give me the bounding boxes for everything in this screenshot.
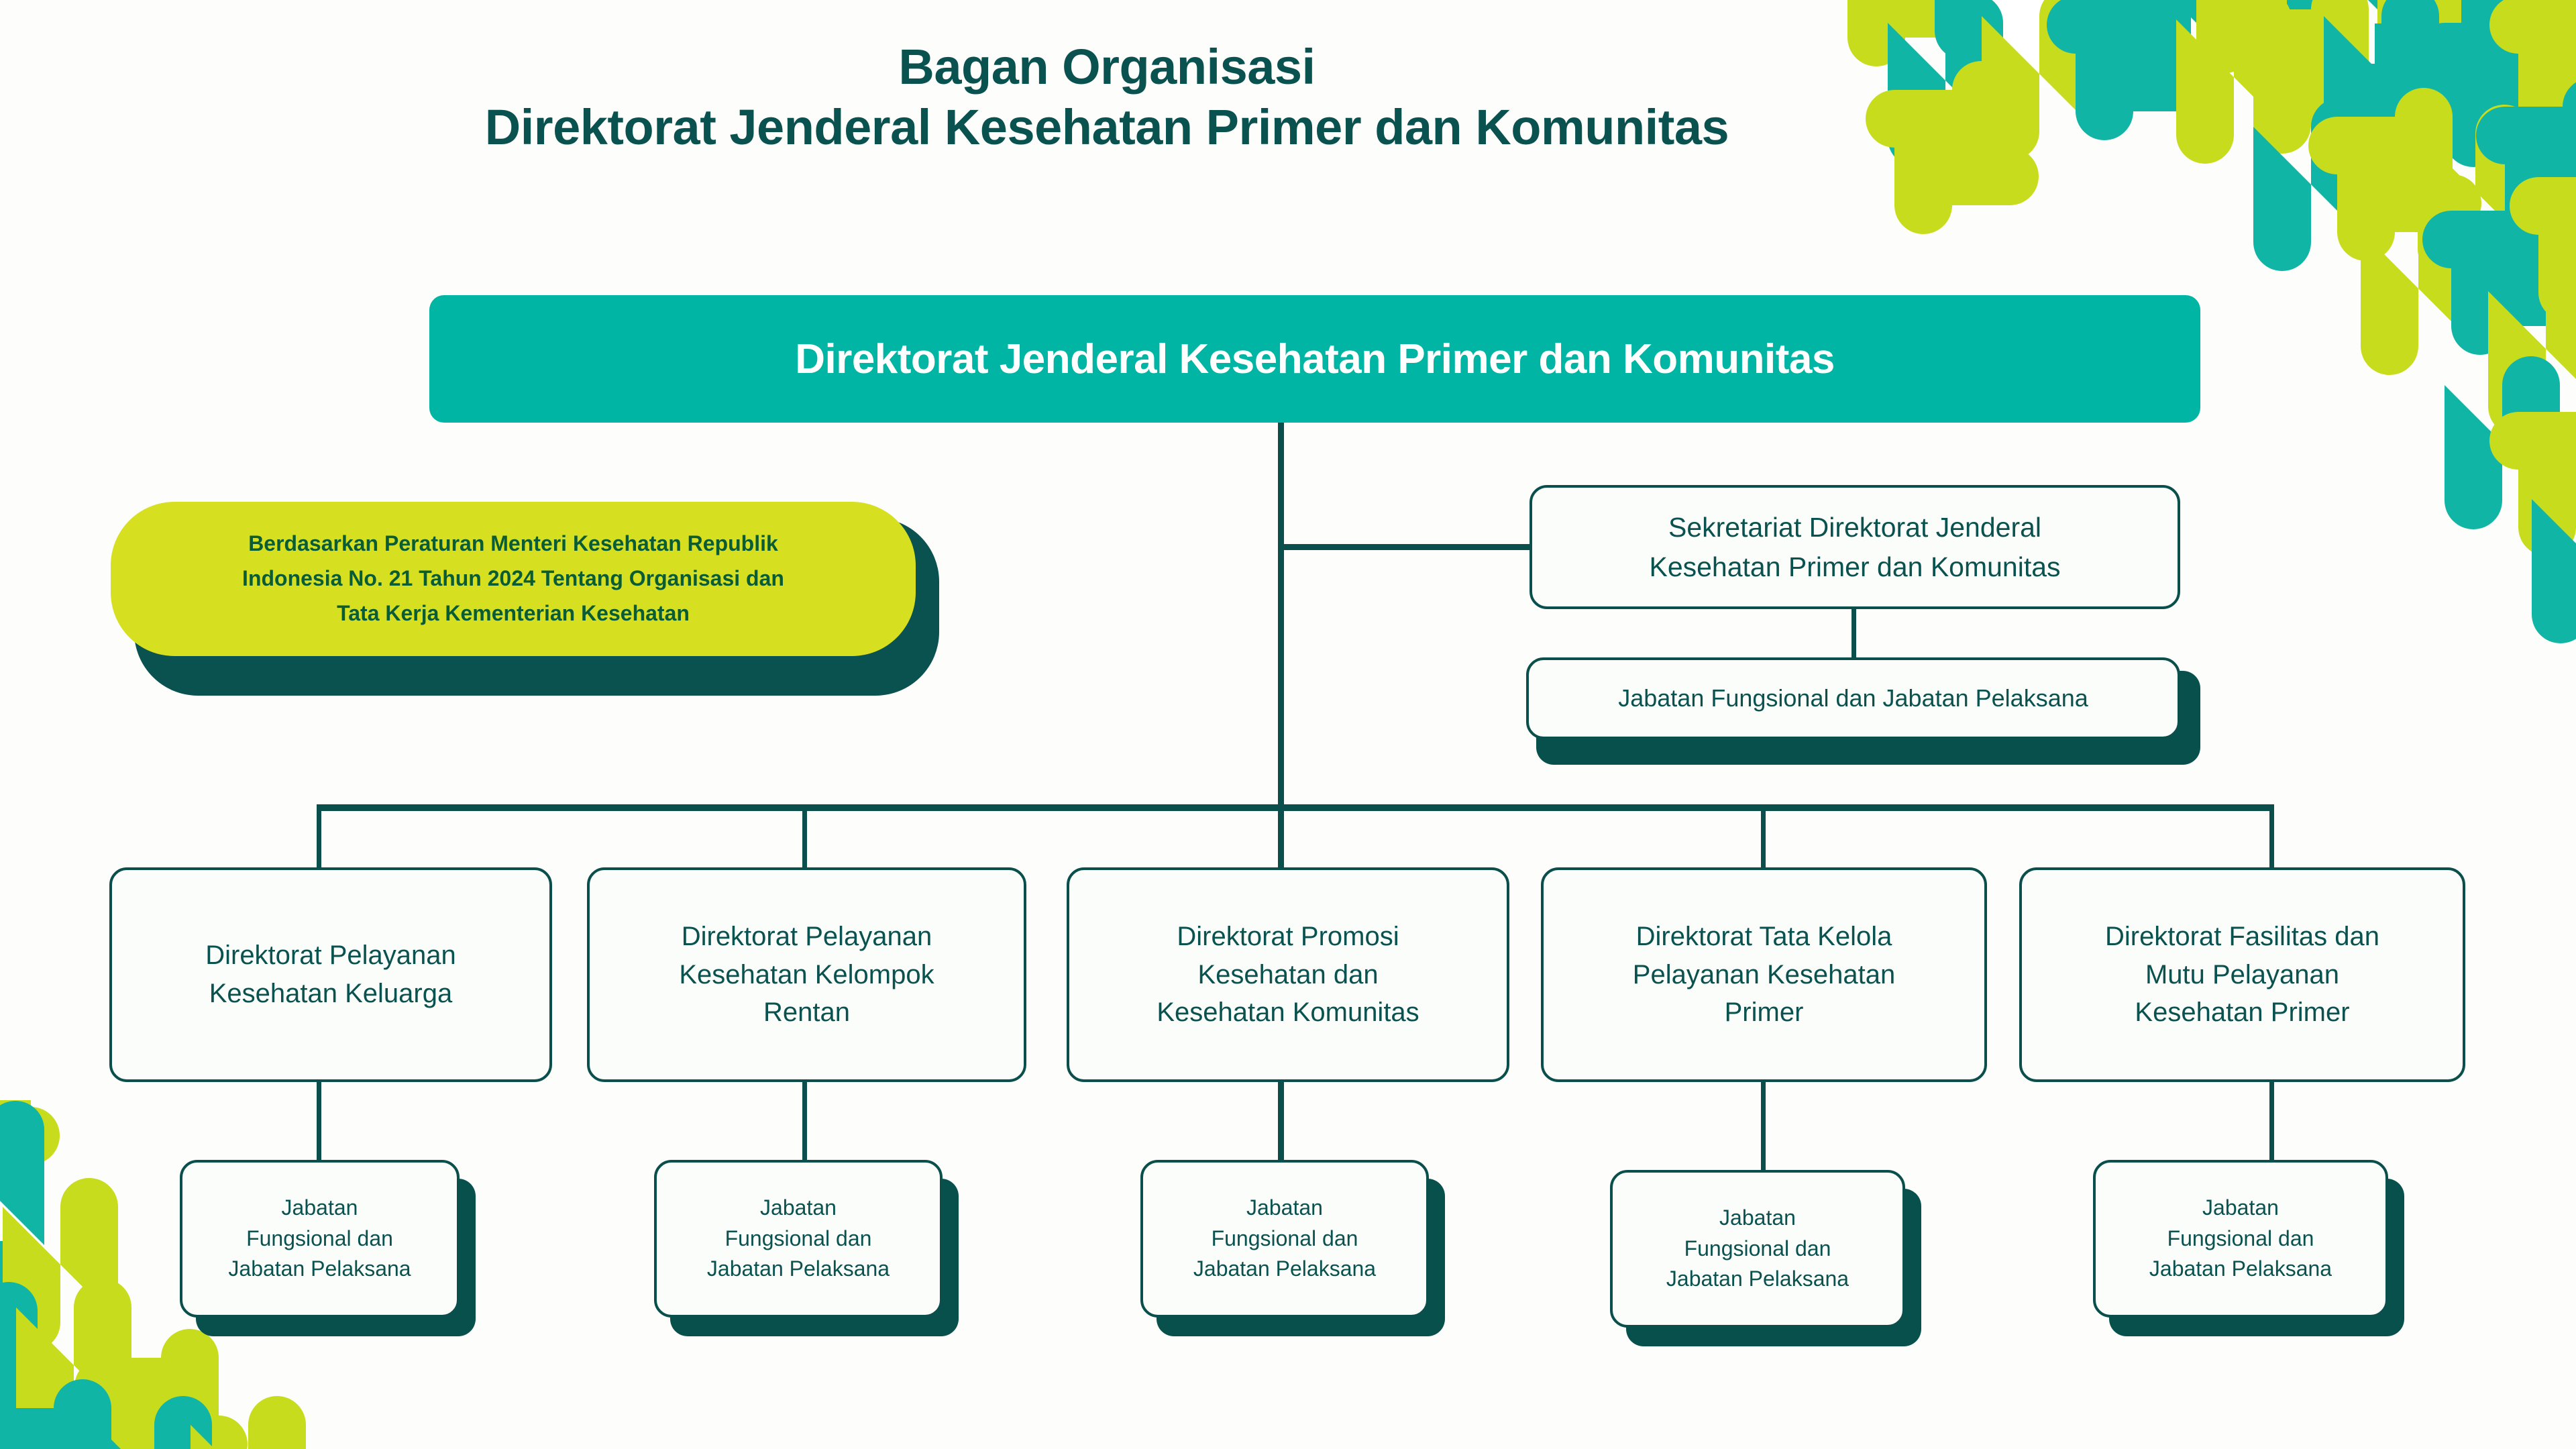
node-jabatan-2[interactable]: Jabatan Fungsional dan Jabatan Pelaksana <box>1140 1160 1429 1318</box>
node-secretariat-jabatan-label: Jabatan Fungsional dan Jabatan Pelaksana <box>1606 681 2100 715</box>
node-jabatan-0-label: Jabatan Fungsional dan Jabatan Pelaksana <box>216 1193 423 1284</box>
connector-bar-to-dir-1 <box>802 804 807 870</box>
jab-0-line-3: Jabatan Pelaksana <box>228 1256 411 1281</box>
regulation-note[interactable]: Berdasarkan Peraturan Menteri Kesehatan … <box>111 502 916 656</box>
connector-dir-3-to-child <box>1761 1079 1766 1173</box>
connector-secretariat-to-child <box>1851 607 1856 661</box>
note-line-3: Tata Kerja Kementerian Kesehatan <box>337 601 690 625</box>
connector-bar-to-dir-2 <box>1278 804 1284 870</box>
connector-dir-2-to-child <box>1278 1079 1284 1163</box>
page-title: Bagan Organisasi Direktorat Jenderal Kes… <box>0 37 2214 158</box>
connector-bar-to-dir-4 <box>2269 804 2274 870</box>
dir-4-line-3: Kesehatan Primer <box>2135 998 2349 1027</box>
dir-1-line-1: Direktorat Pelayanan <box>682 922 932 951</box>
node-jabatan-4-label: Jabatan Fungsional dan Jabatan Pelaksana <box>2137 1193 2344 1284</box>
note-line-1: Berdasarkan Peraturan Menteri Kesehatan … <box>248 531 778 555</box>
dir-3-line-2: Pelayanan Kesehatan <box>1633 960 1895 989</box>
node-jabatan-1-label: Jabatan Fungsional dan Jabatan Pelaksana <box>695 1193 902 1284</box>
jab-2-line-3: Jabatan Pelaksana <box>1193 1256 1376 1281</box>
dir-4-line-2: Mutu Pelayanan <box>2145 960 2339 989</box>
secretariat-line-2: Kesehatan Primer dan Komunitas <box>1649 551 2060 582</box>
node-jabatan-1[interactable]: Jabatan Fungsional dan Jabatan Pelaksana <box>654 1160 943 1318</box>
node-directorate-0[interactable]: Direktorat Pelayanan Kesehatan Keluarga <box>109 867 552 1082</box>
jab-0-line-2: Fungsional dan <box>246 1226 393 1250</box>
secretariat-line-1: Sekretariat Direktorat Jenderal <box>1668 512 2041 543</box>
jab-3-line-3: Jabatan Pelaksana <box>1666 1267 1849 1291</box>
dir-4-line-1: Direktorat Fasilitas dan <box>2105 922 2379 951</box>
node-directorate-3-label: Direktorat Tata Kelola Pelayanan Kesehat… <box>1621 918 1907 1032</box>
jab-4-line-1: Jabatan <box>2202 1195 2279 1220</box>
dir-3-line-1: Direktorat Tata Kelola <box>1636 922 1892 951</box>
jab-2-line-1: Jabatan <box>1246 1195 1323 1220</box>
dir-0-line-1: Direktorat Pelayanan <box>205 941 456 970</box>
jab-3-line-1: Jabatan <box>1719 1205 1796 1230</box>
jab-1-line-2: Fungsional dan <box>725 1226 872 1250</box>
node-jabatan-0[interactable]: Jabatan Fungsional dan Jabatan Pelaksana <box>180 1160 460 1318</box>
title-line-2: Direktorat Jenderal Kesehatan Primer dan… <box>0 97 2214 158</box>
note-line-2: Indonesia No. 21 Tahun 2024 Tentang Orga… <box>242 566 784 590</box>
node-directorate-0-label: Direktorat Pelayanan Kesehatan Keluarga <box>193 936 468 1013</box>
jab-3-line-2: Fungsional dan <box>1684 1236 1831 1260</box>
jab-2-line-2: Fungsional dan <box>1212 1226 1358 1250</box>
node-directorate-1-label: Direktorat Pelayanan Kesehatan Kelompok … <box>667 918 946 1032</box>
node-directorate-3[interactable]: Direktorat Tata Kelola Pelayanan Kesehat… <box>1541 867 1987 1082</box>
jab-1-line-3: Jabatan Pelaksana <box>707 1256 890 1281</box>
dir-2-line-2: Kesehatan dan <box>1197 960 1378 989</box>
jab-0-line-1: Jabatan <box>282 1195 358 1220</box>
connector-dir-1-to-child <box>802 1079 807 1163</box>
node-directorate-4-label: Direktorat Fasilitas dan Mutu Pelayanan … <box>2093 918 2392 1032</box>
node-directorate-1[interactable]: Direktorat Pelayanan Kesehatan Kelompok … <box>587 867 1026 1082</box>
connector-bar-to-dir-3 <box>1761 804 1766 870</box>
connector-root-trunk <box>1278 423 1284 810</box>
connector-dir-0-to-child <box>317 1079 321 1163</box>
node-jabatan-4[interactable]: Jabatan Fungsional dan Jabatan Pelaksana <box>2093 1160 2388 1318</box>
root-node-label: Direktorat Jenderal Kesehatan Primer dan… <box>795 335 1835 383</box>
regulation-note-text: Berdasarkan Peraturan Menteri Kesehatan … <box>211 527 815 631</box>
dir-0-line-2: Kesehatan Keluarga <box>209 979 453 1008</box>
node-jabatan-2-label: Jabatan Fungsional dan Jabatan Pelaksana <box>1181 1193 1388 1284</box>
root-node-directorate-general[interactable]: Direktorat Jenderal Kesehatan Primer dan… <box>429 295 2200 423</box>
node-secretariat-jabatan[interactable]: Jabatan Fungsional dan Jabatan Pelaksana <box>1526 657 2180 739</box>
jab-1-line-1: Jabatan <box>760 1195 837 1220</box>
jab-4-line-3: Jabatan Pelaksana <box>2149 1256 2332 1281</box>
node-secretariat[interactable]: Sekretariat Direktorat Jenderal Kesehata… <box>1529 485 2180 609</box>
dir-3-line-3: Primer <box>1725 998 1804 1027</box>
dir-1-line-3: Rentan <box>763 998 850 1027</box>
dir-2-line-3: Kesehatan Komunitas <box>1157 998 1419 1027</box>
dir-1-line-2: Kesehatan Kelompok <box>679 960 934 989</box>
connector-dir-4-to-child <box>2269 1079 2274 1163</box>
node-directorate-2[interactable]: Direktorat Promosi Kesehatan dan Kesehat… <box>1067 867 1509 1082</box>
dir-2-line-1: Direktorat Promosi <box>1177 922 1399 951</box>
connector-root-to-secretariat <box>1278 544 1534 550</box>
node-directorate-2-label: Direktorat Promosi Kesehatan dan Kesehat… <box>1144 918 1431 1032</box>
connector-bar-to-dir-0 <box>317 804 321 870</box>
org-chart-canvas: Bagan Organisasi Direktorat Jenderal Kes… <box>0 0 2576 1449</box>
node-directorate-4[interactable]: Direktorat Fasilitas dan Mutu Pelayanan … <box>2019 867 2465 1082</box>
node-secretariat-label: Sekretariat Direktorat Jenderal Kesehata… <box>1637 508 2072 586</box>
title-line-1: Bagan Organisasi <box>0 37 2214 97</box>
connector-distribution-bar <box>317 804 2274 811</box>
jab-4-line-2: Fungsional dan <box>2167 1226 2314 1250</box>
node-jabatan-3[interactable]: Jabatan Fungsional dan Jabatan Pelaksana <box>1610 1170 1905 1328</box>
node-jabatan-3-label: Jabatan Fungsional dan Jabatan Pelaksana <box>1654 1203 1861 1294</box>
